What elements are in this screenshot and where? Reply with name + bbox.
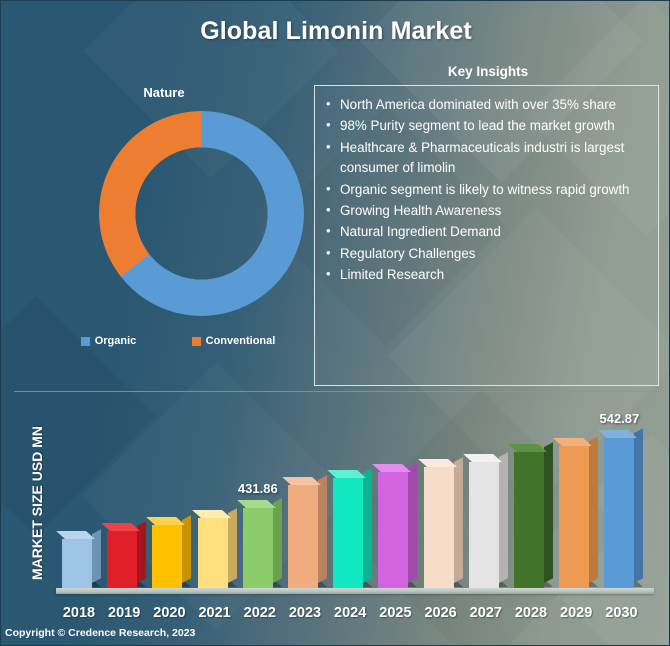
bar-top-face — [599, 430, 638, 438]
bar-top-face — [101, 523, 140, 531]
bar-top-face — [463, 454, 502, 462]
bar-side-face — [363, 468, 372, 583]
x-tick-2023: 2023 — [283, 605, 327, 621]
bar-plot-area: 431.86542.87 — [56, 407, 656, 594]
bar-top-face — [147, 517, 186, 525]
bar-2024 — [333, 468, 363, 588]
bar-side-face — [182, 515, 191, 583]
bar-front-face — [604, 438, 634, 588]
bar-front-face — [62, 539, 92, 588]
legend-item-organic: Organic — [81, 335, 137, 347]
x-tick-2025: 2025 — [373, 605, 417, 621]
key-insight-item: 98% Purity segment to lead the market gr… — [321, 116, 648, 136]
x-tick-2026: 2026 — [419, 605, 463, 621]
x-tick-2024: 2024 — [328, 605, 372, 621]
bar-front-face — [152, 525, 182, 588]
bar-2029 — [559, 436, 589, 588]
x-tick-2018: 2018 — [57, 605, 101, 621]
key-insights-title: Key Insights — [313, 64, 663, 79]
bar-front-face — [243, 508, 273, 588]
key-insight-item: Organic segment is likely to witness rap… — [321, 180, 648, 200]
bar-front-face — [333, 478, 363, 588]
bar-side-face — [408, 462, 417, 583]
x-tick-2021: 2021 — [193, 605, 237, 621]
legend-swatch-conventional — [192, 337, 201, 346]
bar-2030 — [604, 428, 634, 588]
section-divider — [14, 391, 658, 392]
x-tick-2030: 2030 — [599, 605, 643, 621]
key-insight-item: Healthcare & Pharmaceuticals industri is… — [321, 138, 648, 179]
bar-front-face — [469, 462, 499, 588]
bar-top-face — [418, 459, 457, 467]
x-tick-2020: 2020 — [147, 605, 191, 621]
bar-front-face — [288, 485, 318, 588]
x-axis-ticks: 2018201920202021202220232024202520262027… — [56, 605, 656, 625]
bar-top-face — [327, 470, 366, 478]
bar-side-face — [228, 508, 237, 583]
bar-side-face — [544, 442, 553, 583]
bar-2028 — [514, 442, 544, 588]
legend-label-organic: Organic — [95, 335, 137, 347]
market-size-bar-chart: MARKET SIZE USD MN 431.86542.87 20182019… — [1, 399, 670, 646]
bar-front-face — [424, 467, 454, 588]
bar-top-face — [237, 500, 276, 508]
bar-side-face — [634, 428, 643, 583]
donut-chart-title: Nature — [39, 85, 289, 100]
legend-label-conventional: Conventional — [206, 335, 276, 347]
bar-top-face — [282, 477, 321, 485]
key-insight-item: Natural Ingredient Demand — [321, 222, 648, 242]
bar-front-face — [107, 531, 137, 588]
y-axis-label: MARKET SIZE USD MN — [29, 408, 45, 598]
page-title: Global Limonin Market — [1, 17, 670, 46]
bar-2022 — [243, 498, 273, 588]
bar-top-face — [508, 444, 547, 452]
chart-baseline — [56, 588, 654, 594]
key-insight-item: Growing Health Awareness — [321, 201, 648, 221]
x-tick-2028: 2028 — [509, 605, 553, 621]
legend-item-conventional: Conventional — [192, 335, 276, 347]
bar-top-face — [373, 464, 412, 472]
copyright-notice: Copyright © Credence Research, 2023 — [5, 627, 195, 639]
key-insight-item: Regulatory Challenges — [321, 244, 648, 264]
infographic-canvas: Global Limonin Market Nature Organic Con… — [0, 0, 670, 646]
bar-2023 — [288, 475, 318, 588]
bar-top-face — [553, 438, 592, 446]
bar-side-face — [273, 498, 282, 583]
bar-front-face — [378, 472, 408, 588]
x-tick-2022: 2022 — [238, 605, 282, 621]
bar-2018 — [62, 529, 92, 588]
bar-top-face — [56, 531, 95, 539]
bar-side-face — [589, 436, 598, 583]
key-insights-list: North America dominated with over 35% sh… — [315, 86, 658, 285]
bar-front-face — [514, 452, 544, 588]
x-tick-2029: 2029 — [554, 605, 598, 621]
bar-2026 — [424, 457, 454, 588]
donut-legend: Organic Conventional — [53, 335, 303, 347]
key-insight-item: North America dominated with over 35% sh… — [321, 95, 648, 115]
bar-2019 — [107, 521, 137, 588]
bar-value-label-2030: 542.87 — [583, 411, 655, 426]
bar-top-face — [192, 510, 231, 518]
x-tick-2019: 2019 — [102, 605, 146, 621]
key-insight-item: Limited Research — [321, 265, 648, 285]
donut-ring — [99, 111, 304, 316]
bar-side-face — [499, 452, 508, 583]
bar-2021 — [198, 508, 228, 588]
bar-side-face — [454, 457, 463, 583]
x-tick-2027: 2027 — [464, 605, 508, 621]
bar-front-face — [198, 518, 228, 588]
bar-side-face — [318, 475, 327, 583]
legend-swatch-organic — [81, 337, 90, 346]
key-insights-panel: North America dominated with over 35% sh… — [314, 85, 659, 386]
bar-2020 — [152, 515, 182, 588]
nature-donut-chart: Nature Organic Conventional — [39, 85, 301, 360]
bar-2027 — [469, 452, 499, 588]
bar-front-face — [559, 446, 589, 588]
bar-2025 — [378, 462, 408, 588]
bar-value-label-2022: 431.86 — [222, 481, 294, 496]
